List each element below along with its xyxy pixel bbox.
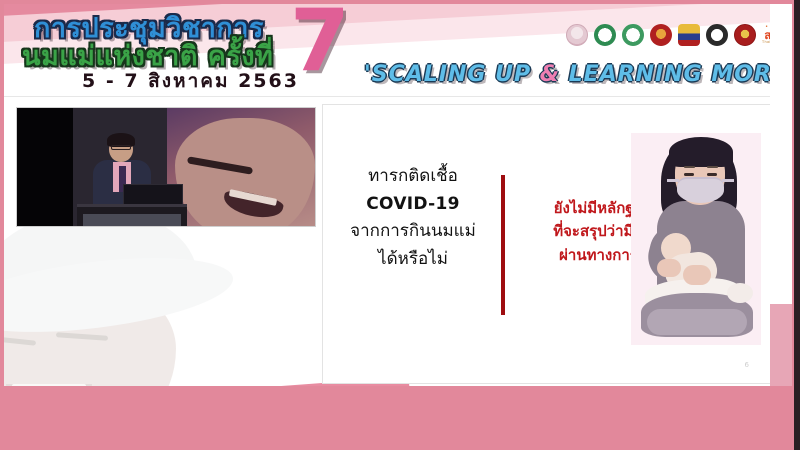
mother-eye-left [684,173,694,176]
red-seal-logo [734,24,756,46]
content-card: ทารกติดเชื้อ COVID-19 จากการกินนมแม่ ได้… [322,104,774,384]
podium-glass-panel [83,214,181,227]
mother-eyebrow-left [684,166,695,168]
slide-frame: การประชุมวิชาการ นมแม่แห่งชาติ ครั้งที่ … [0,0,800,450]
face-mask-strap-right [722,179,734,182]
slide-header: การประชุมวิชาการ นมแม่แห่งชาติ ครั้งที่ … [4,4,792,96]
tagline-part2: LEARNING MORE' [560,62,792,87]
video-wall-left [17,108,73,227]
slide-canvas: การประชุมวิชาการ นมแม่แห่งชาติ ครั้งที่ … [4,4,792,444]
royal-crest-red-logo [650,24,672,46]
ministry-of-public-health-logo [594,24,616,46]
red-vertical-divider [501,175,505,315]
question-line-4: ได้หรือไม่ [333,246,493,274]
sponsor-logo-row: • • • สสส Thai Health [566,24,785,46]
question-text: ทารกติดเชื้อ COVID-19 จากการกินนมแม่ ได้… [333,163,493,273]
mother-foot [727,283,753,303]
face-mask-icon [677,177,724,203]
mother-eyebrow-right [707,166,718,168]
masked-mother-breastfeeding-illustration [631,133,761,345]
tagline-part1: 'SCALING UP [364,62,540,87]
video-projection-screen [167,108,316,227]
frame-bottom-pink [4,386,792,444]
mother-eye-right [707,173,717,176]
tagline-ampersand: & [540,62,560,87]
mother-hand-right [683,265,711,285]
question-line-1: ทารกติดเชื้อ [333,163,493,191]
edition-number: 7 [290,4,350,84]
header-divider [4,96,792,97]
conference-tagline: 'SCALING UP & LEARNING MORE' [364,62,792,87]
slide-number: 6 [745,361,749,369]
viewer-right-edge [794,0,800,450]
question-line-3: จากการกินนมแม่ [333,218,493,246]
mother-hand-left [657,259,681,277]
speaker-video-feed[interactable] [16,107,316,227]
question-line-2: COVID-19 [333,191,493,219]
frame-right-white [770,4,792,304]
thai-flag-crest-logo [678,24,700,46]
speaker-glasses-icon [111,145,131,150]
mother-leg [647,309,747,335]
mother-hair-top [669,137,733,167]
black-seal-logo [706,24,728,46]
royal-emblem-logo [566,24,588,46]
conference-date: 5 - 7 สิงหาคม 2563 [82,66,299,96]
department-of-health-logo [622,24,644,46]
